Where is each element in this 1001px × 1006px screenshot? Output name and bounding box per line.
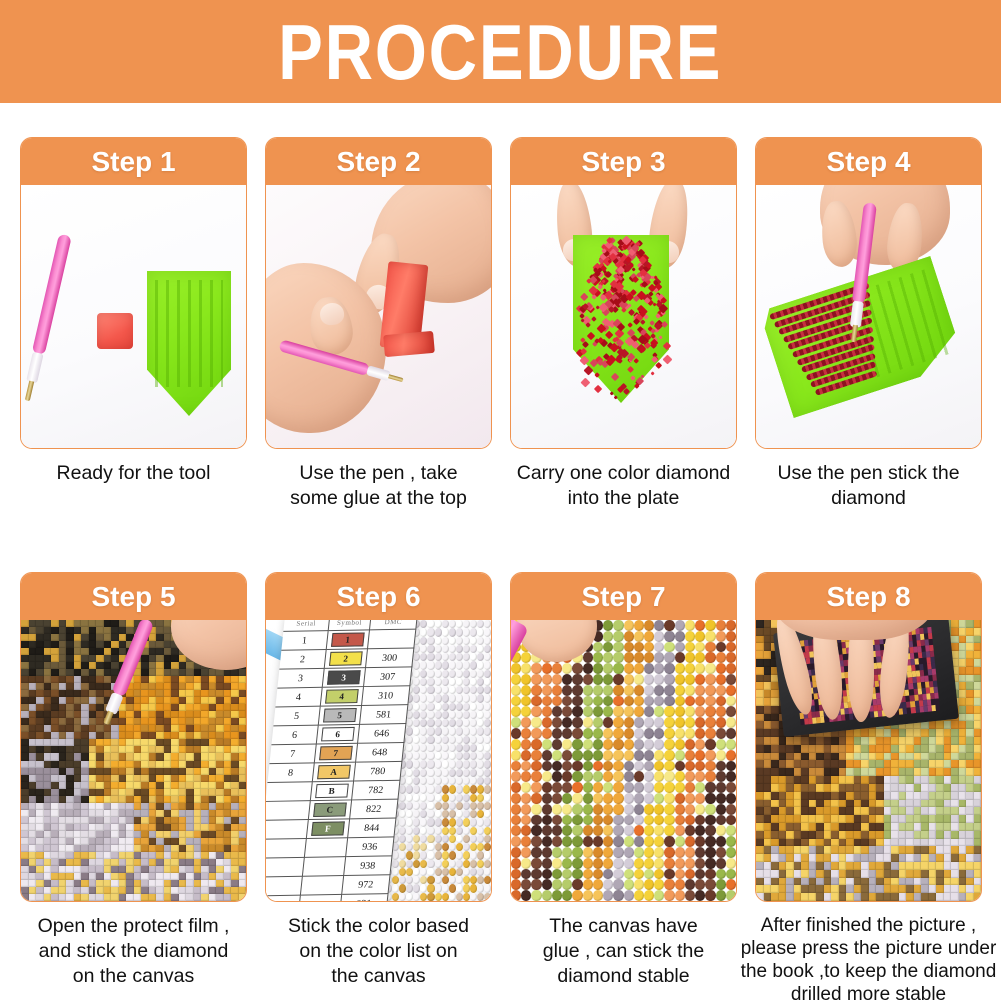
chart-dmc-cell: 938	[344, 856, 393, 876]
step-card-2[interactable]: Step 2	[265, 137, 492, 449]
chart-symbol-cell: 6	[317, 725, 360, 745]
chart-dmc-cell: 307	[364, 667, 413, 687]
chart-dmc-cell: 031	[340, 894, 389, 901]
step-cell-8: Step 8 After finished the picture ,pleas…	[755, 572, 982, 902]
steps-row-top: Step 1	[20, 137, 985, 449]
chart-symbol-cell	[301, 876, 344, 896]
step-image-5	[21, 620, 246, 901]
glue-strip-tip	[383, 331, 435, 357]
chart-dmc-cell: 972	[342, 875, 391, 895]
step-cell-2: Step 2	[265, 137, 492, 449]
chart-symbol-cell: 5	[319, 706, 362, 726]
procedure-infographic: PROCEDURE Step 1	[0, 0, 1001, 1001]
step-cell-1: Step 1	[20, 137, 247, 449]
chart-serial-cell: 6	[271, 726, 318, 746]
step-card-5[interactable]: Step 5	[20, 572, 247, 902]
chart-serial-cell	[266, 896, 301, 901]
step-card-6[interactable]: Step 6 SerialSymbolDMC112230033307443105…	[265, 572, 492, 902]
chart-serial-cell: 1	[281, 631, 328, 651]
chart-dmc-cell: 310	[362, 686, 411, 706]
chart-symbol-cell: A	[313, 763, 356, 783]
chart-serial-cell	[266, 858, 305, 878]
chart-symbol-cell: 3	[323, 668, 366, 688]
step-label-2: Step 2	[336, 148, 420, 176]
chart-dmc-cell: 844	[348, 819, 397, 839]
step-cell-3: Step 3 Carry one color diamondin	[510, 137, 737, 449]
chart-dmc-cell: 300	[366, 648, 415, 668]
chart-column-header: Symbol	[329, 620, 372, 631]
step-image-7	[511, 620, 736, 901]
step-caption-3: Carry one color diamondinto the plate	[496, 461, 751, 511]
chart-serial-cell	[266, 782, 313, 802]
step-cell-7: Step 7 The canvas haveglue , can stick t…	[510, 572, 737, 902]
step-image-2	[266, 185, 491, 448]
steps-row-bottom: Step 5 Open the protect film ,and stick …	[20, 572, 985, 902]
chart-symbol-cell: 4	[321, 687, 364, 707]
chart-serial-cell: 5	[273, 707, 320, 727]
chart-serial-cell: 4	[275, 688, 322, 708]
step-cell-5: Step 5 Open the protect film ,and stick …	[20, 572, 247, 902]
step-image-3	[511, 185, 736, 448]
chart-serial-cell	[266, 801, 311, 821]
step-header-3: Step 3	[511, 138, 736, 185]
step-image-4	[756, 185, 981, 448]
step-caption-8: After finished the picture ,please press…	[737, 914, 1000, 1006]
step-caption-1: Ready for the tool	[6, 461, 261, 486]
step-caption-4: Use the pen stick thediamond	[741, 461, 996, 511]
step-label-3: Step 3	[581, 148, 665, 176]
chart-serial-cell	[266, 839, 307, 859]
chart-serial-cell	[266, 877, 303, 897]
diamond-tray-icon	[147, 271, 231, 416]
step-cell-6: Step 6 SerialSymbolDMC112230033307443105…	[265, 572, 492, 902]
step-label-8: Step 8	[826, 583, 910, 611]
chart-symbol-cell	[299, 895, 342, 901]
chart-serial-cell: 3	[277, 669, 324, 689]
chart-serial-cell: 8	[267, 763, 314, 783]
step-caption-6: Stick the color basedon the color list o…	[255, 914, 502, 989]
chart-serial-cell: 7	[269, 744, 316, 764]
step-label-4: Step 4	[826, 148, 910, 176]
chart-dmc-cell: 822	[350, 800, 399, 820]
step-card-8[interactable]: Step 8	[755, 572, 982, 902]
chart-dmc-cell: 780	[354, 762, 403, 782]
step-label-7: Step 7	[581, 583, 665, 611]
chart-dmc-cell: 782	[352, 781, 401, 801]
chart-serial-cell: 2	[279, 650, 326, 670]
chart-symbol-cell	[305, 838, 348, 858]
glue-square-icon	[97, 313, 133, 349]
step-card-1[interactable]: Step 1	[20, 137, 247, 449]
diamond-pen-icon	[21, 234, 72, 403]
step-image-1	[21, 185, 246, 448]
round-drill-canvas	[511, 620, 736, 901]
chart-symbol-cell: 1	[327, 630, 370, 650]
step-card-3[interactable]: Step 3	[510, 137, 737, 449]
chart-symbol-cell	[303, 857, 346, 877]
step-header-4: Step 4	[756, 138, 981, 185]
page-header: PROCEDURE	[0, 0, 1001, 103]
step-caption-5: Open the protect film ,and stick the dia…	[6, 914, 261, 989]
step-caption-7: The canvas haveglue , can stick thediamo…	[500, 914, 747, 989]
step-label-1: Step 1	[91, 148, 175, 176]
step-header-8: Step 8	[756, 573, 981, 620]
chart-dmc-cell: 581	[360, 705, 409, 725]
chart-dmc-cell: 646	[358, 724, 407, 744]
chart-symbol-cell: B	[311, 782, 354, 802]
step-caption-2: Use the pen , takesome glue at the top	[251, 461, 506, 511]
chart-symbol-cell: 2	[325, 649, 368, 669]
step-image-8	[756, 620, 981, 901]
step-header-6: Step 6	[266, 573, 491, 620]
chart-symbol-cell: 7	[315, 744, 358, 764]
step-label-5: Step 5	[91, 583, 175, 611]
chart-symbol-cell: C	[309, 800, 352, 820]
step-image-6: SerialSymbolDMC1122300333074431055581666…	[266, 620, 491, 901]
step-card-4[interactable]: Step 4	[755, 137, 982, 449]
step-header-7: Step 7	[511, 573, 736, 620]
chart-dmc-cell: 936	[346, 837, 395, 857]
chart-column-header: Serial	[283, 620, 330, 632]
page-title: PROCEDURE	[278, 13, 722, 91]
step-header-5: Step 5	[21, 573, 246, 620]
chart-symbol-cell: F	[307, 819, 350, 839]
chart-dmc-cell	[368, 630, 417, 650]
red-diamond-drills	[573, 237, 669, 397]
step-label-6: Step 6	[336, 583, 420, 611]
step-header-1: Step 1	[21, 138, 246, 185]
step-cell-4: Step 4	[755, 137, 982, 449]
chart-serial-cell	[266, 820, 309, 840]
step-header-2: Step 2	[266, 138, 491, 185]
step-card-7[interactable]: Step 7	[510, 572, 737, 902]
chart-dmc-cell: 648	[356, 743, 405, 763]
